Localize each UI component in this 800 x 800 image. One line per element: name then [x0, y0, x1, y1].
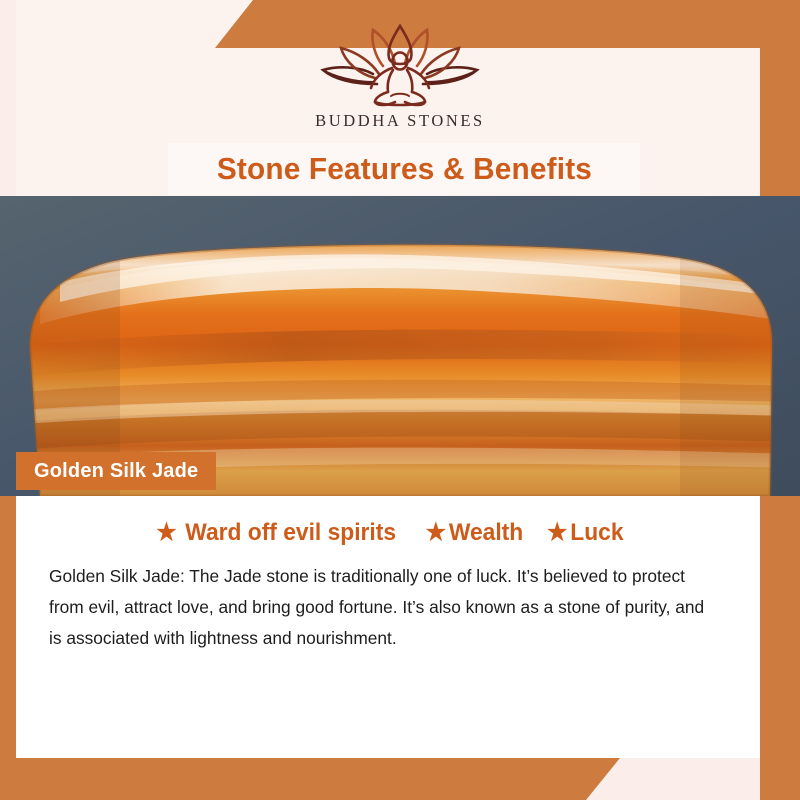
frame-bottom-accent: [0, 758, 620, 800]
stone-photo-illustration: [0, 196, 800, 496]
benefit-label: Luck: [571, 519, 624, 547]
page-title: Stone Features & Benefits: [216, 151, 591, 187]
star-icon: ★: [547, 521, 567, 545]
brand-name: BUDDHA STONES: [0, 111, 800, 131]
benefit-item-2: ★ Luck: [547, 519, 624, 547]
lotus-meditation-icon: [315, 22, 485, 108]
content-panel: ★ Ward off evil spirits ★ Wealth ★ Luck …: [16, 496, 760, 758]
star-icon: ★: [156, 521, 176, 545]
star-icon: ★: [425, 521, 445, 545]
stone-description: Golden Silk Jade: The Jade stone is trad…: [49, 561, 719, 654]
page-title-card: Stone Features & Benefits: [168, 143, 640, 195]
benefit-label: Wealth: [448, 519, 522, 547]
stone-name-badge: Golden Silk Jade: [16, 452, 216, 490]
benefits-list: ★ Ward off evil spirits ★ Wealth ★ Luck: [16, 519, 760, 547]
benefit-label: Ward off evil spirits: [185, 519, 396, 547]
stone-photo: Golden Silk Jade: [0, 196, 800, 496]
stone-name-label: Golden Silk Jade: [34, 460, 198, 483]
stone-features-poster: BUDDHA STONES Stone Features & Benefits: [0, 0, 800, 800]
poster-header: BUDDHA STONES Stone Features & Benefits: [0, 0, 800, 196]
brand-logo: BUDDHA STONES: [0, 22, 800, 131]
benefit-item-1: ★ Wealth: [425, 519, 523, 547]
benefit-item-0: ★ Ward off evil spirits: [156, 519, 396, 547]
